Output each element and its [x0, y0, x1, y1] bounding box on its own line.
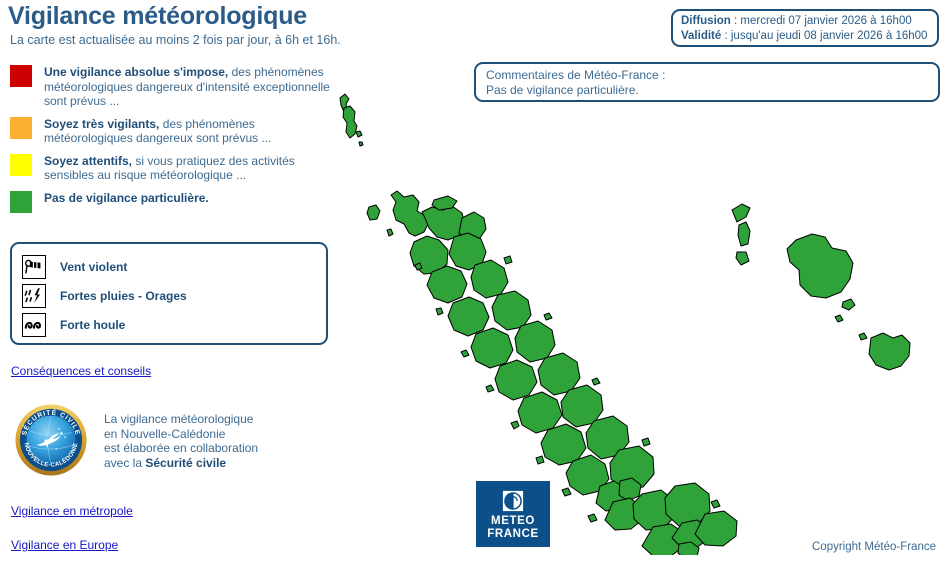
- legend-swatch-red: [10, 65, 32, 87]
- vigilance-map[interactable]: [330, 90, 950, 555]
- map-zone-ouvea[interactable]: [732, 204, 750, 265]
- map-zone-belep-islet-2[interactable]: [359, 142, 363, 146]
- map-zone-mare[interactable]: [869, 333, 910, 370]
- legend-text-orange: Soyez très vigilants, des phénomènes mét…: [44, 116, 340, 146]
- validite-label: Validité: [681, 30, 721, 42]
- map-zone-yande[interactable]: [367, 205, 380, 220]
- phenomenon-row-vent-violent: Vent violent: [22, 252, 326, 281]
- legend-strong-green: Pas de vigilance particulière.: [44, 191, 209, 205]
- meteo-france-line-2: FRANCE: [476, 528, 550, 541]
- map-zone-touho[interactable]: [471, 260, 508, 298]
- map-zone-belep-main[interactable]: [343, 106, 357, 138]
- meteo-france-glyph-icon: [502, 490, 524, 512]
- heavy-swell-icon: [22, 313, 46, 337]
- phenomenon-label-vent-violent: Vent violent: [60, 260, 127, 274]
- validite-line: Validité : jusqu'au jeudi 08 janvier 202…: [681, 29, 930, 44]
- phenomenon-label-forte-houle: Forte houle: [60, 318, 125, 332]
- map-zone-belep-islet-1[interactable]: [356, 131, 362, 137]
- meteo-france-line-1: METEO: [476, 515, 550, 528]
- securite-civile-line-4-prefix: avec la: [104, 456, 145, 470]
- phenomena-legend-box: Vent violent Fortes pluies - Orages: [10, 242, 328, 345]
- map-zone-islet-west-1[interactable]: [415, 263, 422, 270]
- phenomenon-row-forte-houle: Forte houle: [22, 310, 326, 339]
- legend-item-orange: Soyez très vigilants, des phénomènes mét…: [10, 116, 340, 146]
- map-zone-tiga[interactable]: [842, 299, 855, 310]
- map-zone-kone[interactable]: [471, 328, 513, 368]
- map-zone-islet-west-5[interactable]: [511, 421, 519, 429]
- link-vigilance-europe[interactable]: Vigilance en Europe: [11, 538, 118, 552]
- legend-strong-yellow: Soyez attentifs,: [44, 154, 132, 168]
- map-zone-islet-west-2[interactable]: [436, 308, 443, 315]
- legend-item-yellow: Soyez attentifs, si vous pratiquez des a…: [10, 153, 340, 183]
- map-zone-islet-west-4[interactable]: [486, 385, 494, 392]
- copyright-text: Copyright Météo-France: [812, 541, 936, 553]
- map-zone-islet-west-7[interactable]: [562, 488, 571, 496]
- diffusion-label: Diffusion: [681, 15, 731, 27]
- map-zone-islet-east-5[interactable]: [711, 500, 720, 508]
- securite-civile-line-1: La vigilance météorologique: [104, 412, 258, 427]
- bulletin-dates-box: Diffusion : mercredi 07 janvier 2026 à 1…: [671, 9, 939, 47]
- securite-civile-line-3: est élaborée en collaboration: [104, 441, 258, 456]
- link-vigilance-metropole[interactable]: Vigilance en métropole: [11, 504, 133, 518]
- new-caledonia-map-svg[interactable]: [330, 90, 950, 555]
- securite-civile-line-4: avec la Sécurité civile: [104, 456, 258, 471]
- windsock-icon: [22, 255, 46, 279]
- map-zone-pouembout[interactable]: [495, 360, 537, 400]
- securite-civile-line-2: en Nouvelle-Calédonie: [104, 427, 258, 442]
- map-zone-poindimie[interactable]: [492, 291, 531, 330]
- map-zone-lifou[interactable]: [787, 234, 853, 298]
- map-zone-islet-east-3[interactable]: [592, 378, 600, 385]
- map-zone-islet-west-8[interactable]: [588, 514, 597, 522]
- map-zone-islet-east-4[interactable]: [642, 438, 650, 446]
- validite-value: : jusqu'au jeudi 08 janvier 2026 à 16h00: [721, 30, 927, 42]
- diffusion-line: Diffusion : mercredi 07 janvier 2026 à 1…: [681, 14, 930, 29]
- diffusion-value: : mercredi 07 janvier 2026 à 16h00: [731, 15, 912, 27]
- meteo-france-logo: METEO FRANCE: [476, 481, 550, 547]
- map-zone-islet-west-6[interactable]: [536, 456, 544, 464]
- map-zone-islet-east-2[interactable]: [544, 313, 552, 320]
- legend-text-red: Une vigilance absolue s'impose, des phén…: [44, 64, 340, 109]
- map-zone-poya[interactable]: [518, 392, 562, 433]
- link-consequences-et-conseils[interactable]: Conséquences et conseils: [11, 364, 151, 378]
- map-zone-kaala-gomen[interactable]: [427, 266, 467, 303]
- phenomenon-label-fortes-pluies-orages: Fortes pluies - Orages: [60, 289, 187, 303]
- securite-civile-block: SÉCURITÉ CIVILE NOUVELLE-CALÉDONIE La vi…: [12, 403, 258, 477]
- legend-swatch-green: [10, 191, 32, 213]
- securite-civile-line-4-strong: Sécurité civile: [145, 456, 226, 470]
- comments-heading: Commentaires de Météo-France :: [486, 68, 930, 83]
- legend-swatch-orange: [10, 117, 32, 139]
- map-zone-ponerihouen[interactable]: [515, 321, 555, 362]
- map-zone-islet-loyaute-1[interactable]: [835, 315, 843, 322]
- map-zone-islet-east-1[interactable]: [504, 256, 512, 264]
- page-title: Vigilance météorologique: [8, 2, 307, 31]
- legend-item-green: Pas de vigilance particulière.: [10, 190, 340, 213]
- legend-swatch-yellow: [10, 154, 32, 176]
- map-zone-islet-loyaute-2[interactable]: [859, 333, 867, 340]
- securite-civile-text: La vigilance météorologique en Nouvelle-…: [104, 403, 258, 470]
- legend-text-yellow: Soyez attentifs, si vous pratiquez des a…: [44, 153, 340, 183]
- map-zone-voh[interactable]: [448, 297, 489, 336]
- vigilance-page: Vigilance météorologique La carte est ac…: [0, 0, 950, 565]
- page-subtitle: La carte est actualisée au moins 2 fois …: [10, 33, 341, 47]
- phenomenon-row-fortes-pluies-orages: Fortes pluies - Orages: [22, 281, 326, 310]
- securite-civile-badge-icon: SÉCURITÉ CIVILE NOUVELLE-CALÉDONIE: [12, 403, 90, 477]
- vigilance-colour-legend: Une vigilance absolue s'impose, des phén…: [10, 64, 340, 220]
- map-zone-islet-west-3[interactable]: [461, 350, 469, 357]
- legend-item-red: Une vigilance absolue s'impose, des phén…: [10, 64, 340, 109]
- map-zone-ouegoa[interactable]: [422, 206, 465, 240]
- legend-text-green: Pas de vigilance particulière.: [44, 190, 209, 206]
- rain-thunderstorm-icon: [22, 284, 46, 308]
- map-zone-islet-north-3[interactable]: [387, 229, 393, 236]
- legend-strong-red: Une vigilance absolue s'impose,: [44, 65, 228, 79]
- legend-strong-orange: Soyez très vigilants,: [44, 117, 159, 131]
